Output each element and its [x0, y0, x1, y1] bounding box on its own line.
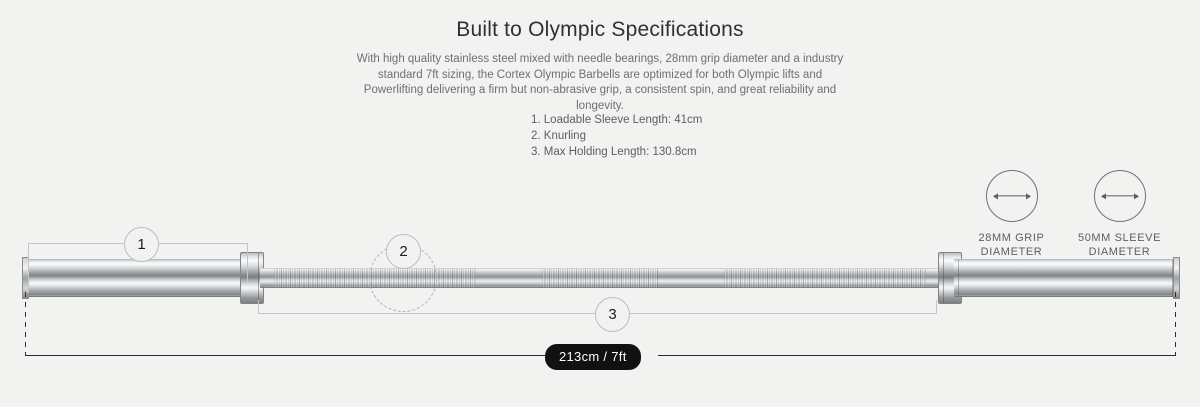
- overall-length-badge: 213cm / 7ft: [545, 344, 641, 370]
- spec-list-item-3: 3. Max Holding Length: 130.8cm: [531, 144, 702, 160]
- barbell-left-sleeve: [24, 259, 246, 297]
- callout-3[interactable]: 3: [595, 297, 630, 332]
- diameter-arrow-icon: [994, 195, 1030, 196]
- sleeve-diameter-label: 50MM SLEEVE DIAMETER: [1063, 231, 1176, 259]
- diameter-circle-icon: [986, 170, 1038, 222]
- spec-list-item-2: 2. Knurling: [531, 128, 702, 144]
- knurling-center: [542, 269, 658, 287]
- sleeve-diameter-badge: 50MM SLEEVE DIAMETER: [1063, 170, 1176, 259]
- spec-list: 1. Loadable Sleeve Length: 41cm 2. Knurl…: [531, 112, 702, 160]
- barbell-shaft: [260, 268, 940, 288]
- grip-diameter-label: 28MM GRIP DIAMETER: [955, 231, 1068, 259]
- product-description: With high quality stainless steel mixed …: [350, 52, 850, 114]
- barbell-right-sleeve: [954, 259, 1176, 297]
- callout-2[interactable]: 2: [386, 234, 421, 269]
- callout-1[interactable]: 1: [124, 227, 159, 262]
- knurling-right: [724, 269, 926, 287]
- grip-diameter-badge: 28MM GRIP DIAMETER: [955, 170, 1068, 259]
- diameter-arrow-icon: [1102, 195, 1138, 196]
- page-title: Built to Olympic Specifications: [0, 18, 1200, 42]
- diameter-circle-icon: [1094, 170, 1146, 222]
- spec-list-item-1: 1. Loadable Sleeve Length: 41cm: [531, 112, 702, 128]
- product-spec-diagram: Built to Olympic Specifications With hig…: [0, 0, 1200, 407]
